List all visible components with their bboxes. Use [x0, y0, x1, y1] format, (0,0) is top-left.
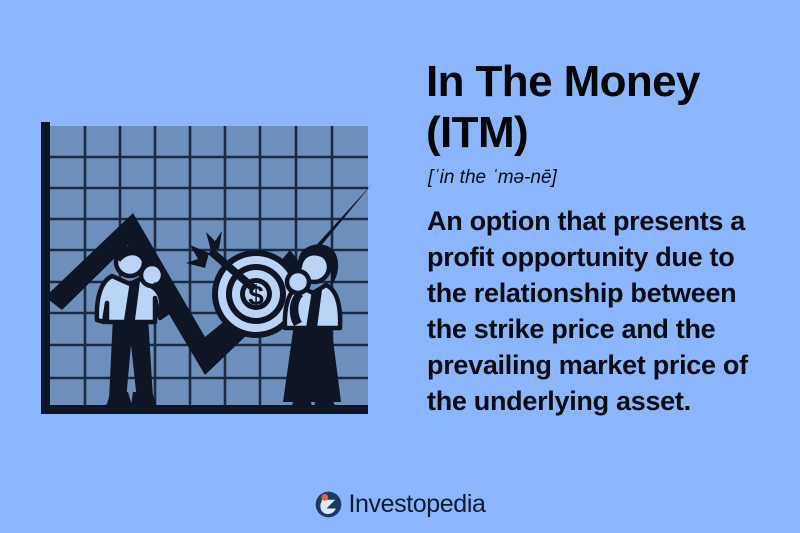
illustration-chart-graphic: $ [0, 0, 400, 470]
brand-name: Investopedia [349, 491, 486, 518]
brand-footer: Investopedia [0, 491, 800, 518]
definition-text: An option that presents a profit opportu… [427, 203, 773, 419]
definition-text-column: In The Money (ITM) [ˈin the ˈmə-nē] An o… [426, 56, 786, 419]
itm-definition-card: $ [0, 0, 800, 533]
investopedia-logo-icon [315, 491, 342, 518]
y-axis [41, 122, 50, 414]
pronunciation-text: [ˈin the ˈmə-nē] [428, 167, 786, 189]
page-title: In The Money (ITM) [426, 56, 786, 158]
